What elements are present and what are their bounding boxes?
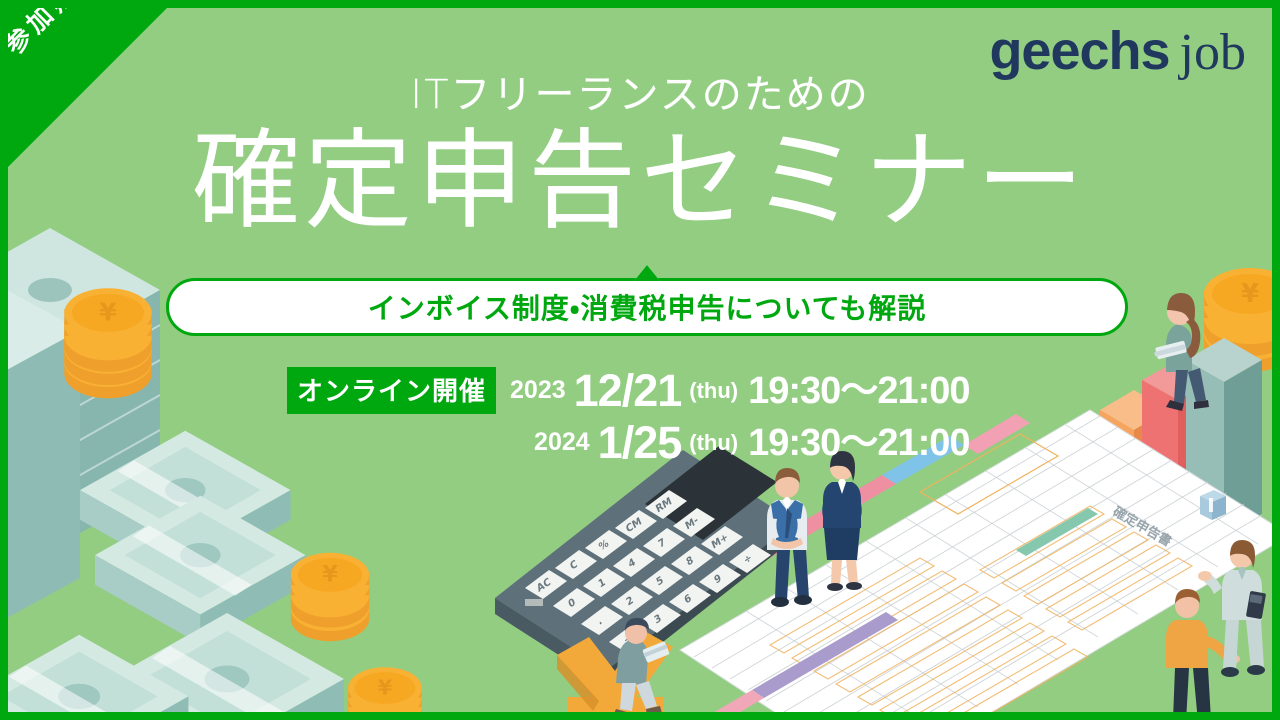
session-2-date: 1/25: [598, 420, 682, 465]
session-1-year: 2023: [510, 376, 566, 405]
seminar-banner: ¥: [0, 0, 1280, 720]
session-1-dayofweek: (thu): [689, 378, 738, 404]
subtitle-bubble-body: インボイス制度・消費税申告についても解説: [166, 278, 1128, 336]
logo-primary-text: geechs: [989, 20, 1169, 82]
schedule-row-1: オンライン開催 2023 12/21 (thu) 19:30〜21:00: [287, 367, 970, 414]
session-1-time: 19:30〜21:00: [748, 372, 969, 410]
session-2-dayofweek: (thu): [689, 430, 738, 456]
session-2-time: 19:30〜21:00: [748, 424, 969, 462]
schedule-row-2: 2024 1/25 (thu) 19:30〜21:00: [287, 420, 970, 465]
free-entry-ribbon: 参加無料: [0, 0, 230, 230]
schedule-block: オンライン開催 2023 12/21 (thu) 19:30〜21:00 202…: [287, 367, 970, 465]
session-2-year: 2024: [534, 428, 590, 457]
geechs-job-logo[interactable]: geechs job: [989, 20, 1246, 82]
subtitle-bubble-text: インボイス制度・消費税申告についても解説: [368, 287, 926, 327]
session-1-date: 12/21: [574, 368, 682, 413]
subtitle-bubble: インボイス制度・消費税申告についても解説: [166, 278, 1128, 336]
online-event-badge: オンライン開催: [287, 367, 496, 414]
